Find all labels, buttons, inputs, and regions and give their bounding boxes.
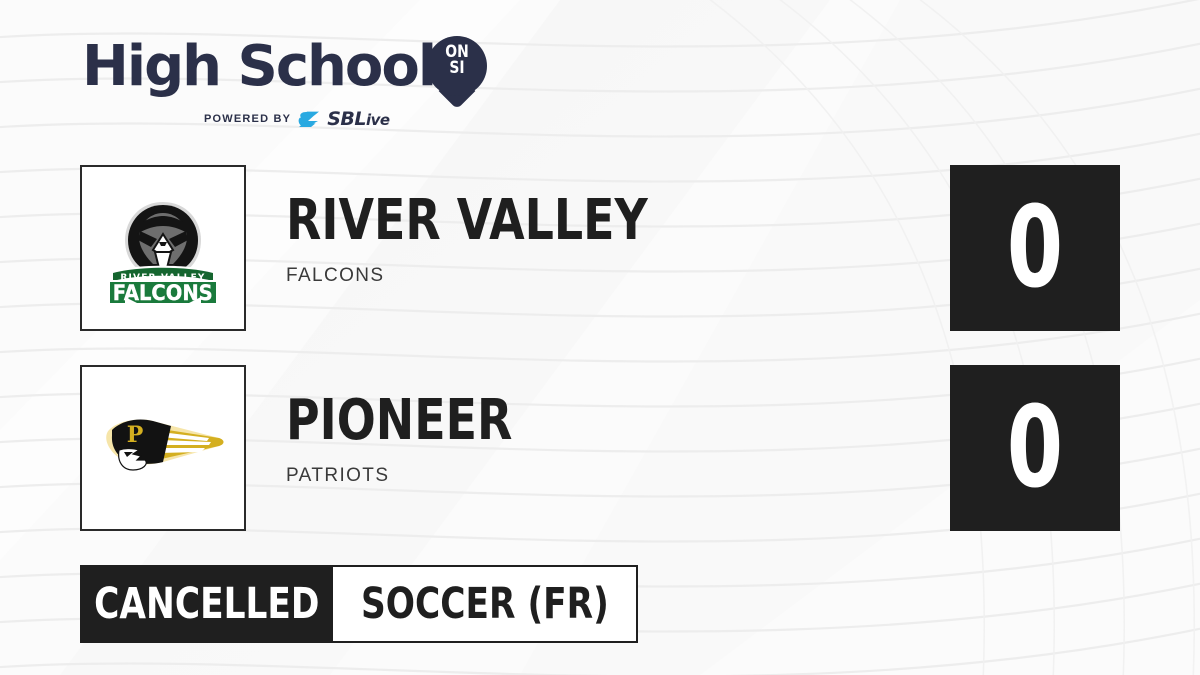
sblive-wordmark: SBLive — [327, 108, 389, 130]
team-row-away: RIVER VALLEY FALCONS RIVER VALLEY FALCON… — [80, 165, 1125, 335]
sblive-sbl: SBL — [327, 108, 366, 130]
pin-label-si: SI — [432, 60, 481, 76]
sport-label: SOCCER (FR) — [361, 583, 609, 626]
team-logo-card-home: P — [80, 365, 246, 531]
svg-text:P: P — [127, 422, 144, 448]
brand-wordmark: High School — [82, 38, 435, 96]
team-name-home: PIONEER — [286, 393, 512, 449]
team-mascot-home: PATRIOTS — [286, 465, 562, 487]
team-text-home: PIONEER PATRIOTS — [286, 393, 562, 487]
brand-logo: High School ON SI POWERED BY SBLive — [82, 38, 512, 134]
pin-label-group: ON SI — [432, 44, 481, 76]
powered-by-group: POWERED BY SBLive — [204, 108, 390, 130]
team-name-away: RIVER VALLEY — [286, 193, 648, 249]
team-row-home: P PIONEER PATRIOTS 0 — [80, 365, 1125, 535]
patriot-hat-logo-icon: P — [93, 378, 233, 518]
sblive-s-icon — [298, 111, 320, 128]
score-value-home: 0 — [1007, 392, 1063, 504]
score-value-away: 0 — [1007, 192, 1063, 304]
score-box-away: 0 — [950, 165, 1120, 331]
team-mascot-away: FALCONS — [286, 265, 727, 287]
team-logo-card-away: RIVER VALLEY FALCONS — [80, 165, 246, 331]
game-status-label: CANCELLED — [94, 583, 319, 626]
team-text-away: RIVER VALLEY FALCONS — [286, 193, 727, 287]
on-si-pin-icon: ON SI — [427, 36, 489, 112]
sblive-ive: ive — [366, 111, 390, 129]
sport-badge: SOCCER (FR) — [333, 565, 638, 643]
falcon-head-logo-icon: RIVER VALLEY FALCONS — [93, 178, 233, 318]
score-box-home: 0 — [950, 365, 1120, 531]
game-status-badge: CANCELLED — [80, 565, 333, 643]
powered-by-label: POWERED BY — [204, 113, 291, 125]
scoreboard-graphic: High School ON SI POWERED BY SBLive — [0, 0, 1200, 675]
status-bar: CANCELLED SOCCER (FR) — [80, 565, 638, 643]
svg-text:FALCONS: FALCONS — [113, 280, 213, 305]
